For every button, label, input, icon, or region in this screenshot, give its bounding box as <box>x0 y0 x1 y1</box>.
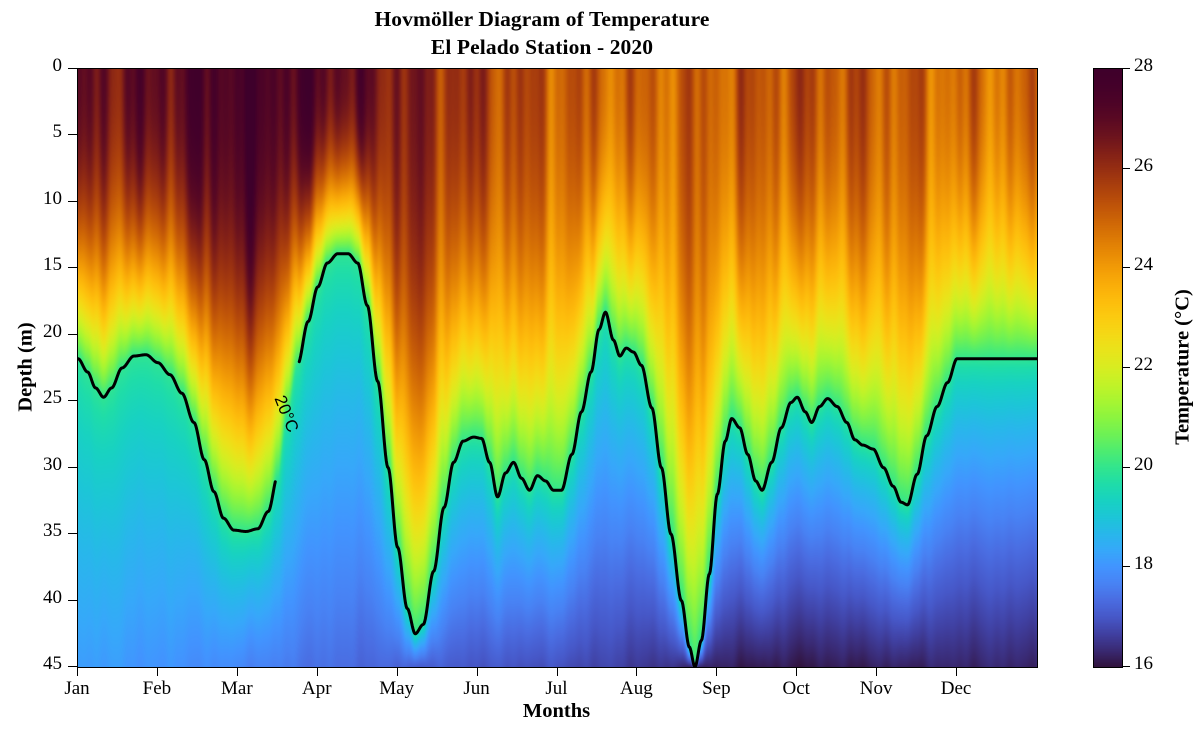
colorbar-tick-mark <box>1122 566 1130 567</box>
title-line-1: Hovmöller Diagram of Temperature <box>0 6 1084 34</box>
x-tick-label: Feb <box>117 678 197 700</box>
x-tick-mark <box>237 667 238 676</box>
y-tick-mark <box>68 400 77 401</box>
x-tick-mark <box>317 667 318 676</box>
x-tick-label: May <box>357 678 437 700</box>
isotherm-20c-path-segment-2 <box>299 254 1037 667</box>
colorbar-tick-label: 20 <box>1134 454 1153 476</box>
x-axis-label: Months <box>77 700 1036 723</box>
colorbar-tick-mark <box>1122 267 1130 268</box>
y-tick-label: 45 <box>17 653 62 675</box>
y-axis-label: Depth (m) <box>15 322 38 411</box>
title-line-2: El Pelado Station - 2020 <box>0 34 1084 62</box>
hovmoller-figure: Hovmöller Diagram of Temperature El Pela… <box>0 0 1200 738</box>
y-tick-mark <box>68 666 77 667</box>
y-tick-label: 15 <box>17 254 62 276</box>
x-tick-mark <box>557 667 558 676</box>
x-tick-label: Sep <box>676 678 756 700</box>
page-title: Hovmöller Diagram of Temperature El Pela… <box>0 6 1084 62</box>
colorbar-label: Temperature (°C) <box>1172 289 1195 445</box>
x-tick-mark <box>157 667 158 676</box>
y-tick-label: 0 <box>17 55 62 77</box>
x-tick-label: Apr <box>277 678 357 700</box>
x-tick-mark <box>796 667 797 676</box>
colorbar-tick-mark <box>1122 467 1130 468</box>
colorbar-tick-label: 28 <box>1134 55 1153 77</box>
x-tick-mark <box>397 667 398 676</box>
x-tick-label: Mar <box>197 678 277 700</box>
y-tick-mark <box>68 533 77 534</box>
colorbar-tick-mark <box>1122 68 1130 69</box>
y-tick-label: 40 <box>17 587 62 609</box>
y-tick-mark <box>68 467 77 468</box>
x-tick-label: Aug <box>596 678 676 700</box>
isotherm-contour-layer <box>78 69 1037 667</box>
x-tick-mark <box>956 667 957 676</box>
colorbar-tick-label: 26 <box>1134 155 1153 177</box>
x-tick-mark <box>876 667 877 676</box>
x-tick-label: Jun <box>437 678 517 700</box>
colorbar <box>1093 68 1123 668</box>
isotherm-20c-path-segment-1 <box>78 355 275 532</box>
y-tick-label: 30 <box>17 454 62 476</box>
plot-area <box>77 68 1038 668</box>
y-tick-mark <box>68 68 77 69</box>
x-tick-label: Oct <box>756 678 836 700</box>
colorbar-tick-label: 18 <box>1134 553 1153 575</box>
y-tick-mark <box>68 334 77 335</box>
colorbar-gradient <box>1094 69 1122 667</box>
y-tick-label: 10 <box>17 188 62 210</box>
x-tick-mark <box>477 667 478 676</box>
colorbar-tick-label: 24 <box>1134 254 1153 276</box>
x-tick-mark <box>77 667 78 676</box>
x-tick-mark <box>716 667 717 676</box>
x-tick-label: Jul <box>517 678 597 700</box>
colorbar-tick-label: 22 <box>1134 354 1153 376</box>
x-tick-label: Dec <box>916 678 996 700</box>
x-tick-label: Nov <box>836 678 916 700</box>
y-tick-label: 5 <box>17 121 62 143</box>
x-tick-mark <box>636 667 637 676</box>
colorbar-tick-mark <box>1122 666 1130 667</box>
x-tick-label: Jan <box>37 678 117 700</box>
colorbar-tick-mark <box>1122 367 1130 368</box>
colorbar-tick-label: 16 <box>1134 653 1153 675</box>
y-tick-mark <box>68 600 77 601</box>
colorbar-tick-mark <box>1122 168 1130 169</box>
y-tick-mark <box>68 201 77 202</box>
y-tick-mark <box>68 267 77 268</box>
y-tick-label: 35 <box>17 520 62 542</box>
y-tick-mark <box>68 134 77 135</box>
